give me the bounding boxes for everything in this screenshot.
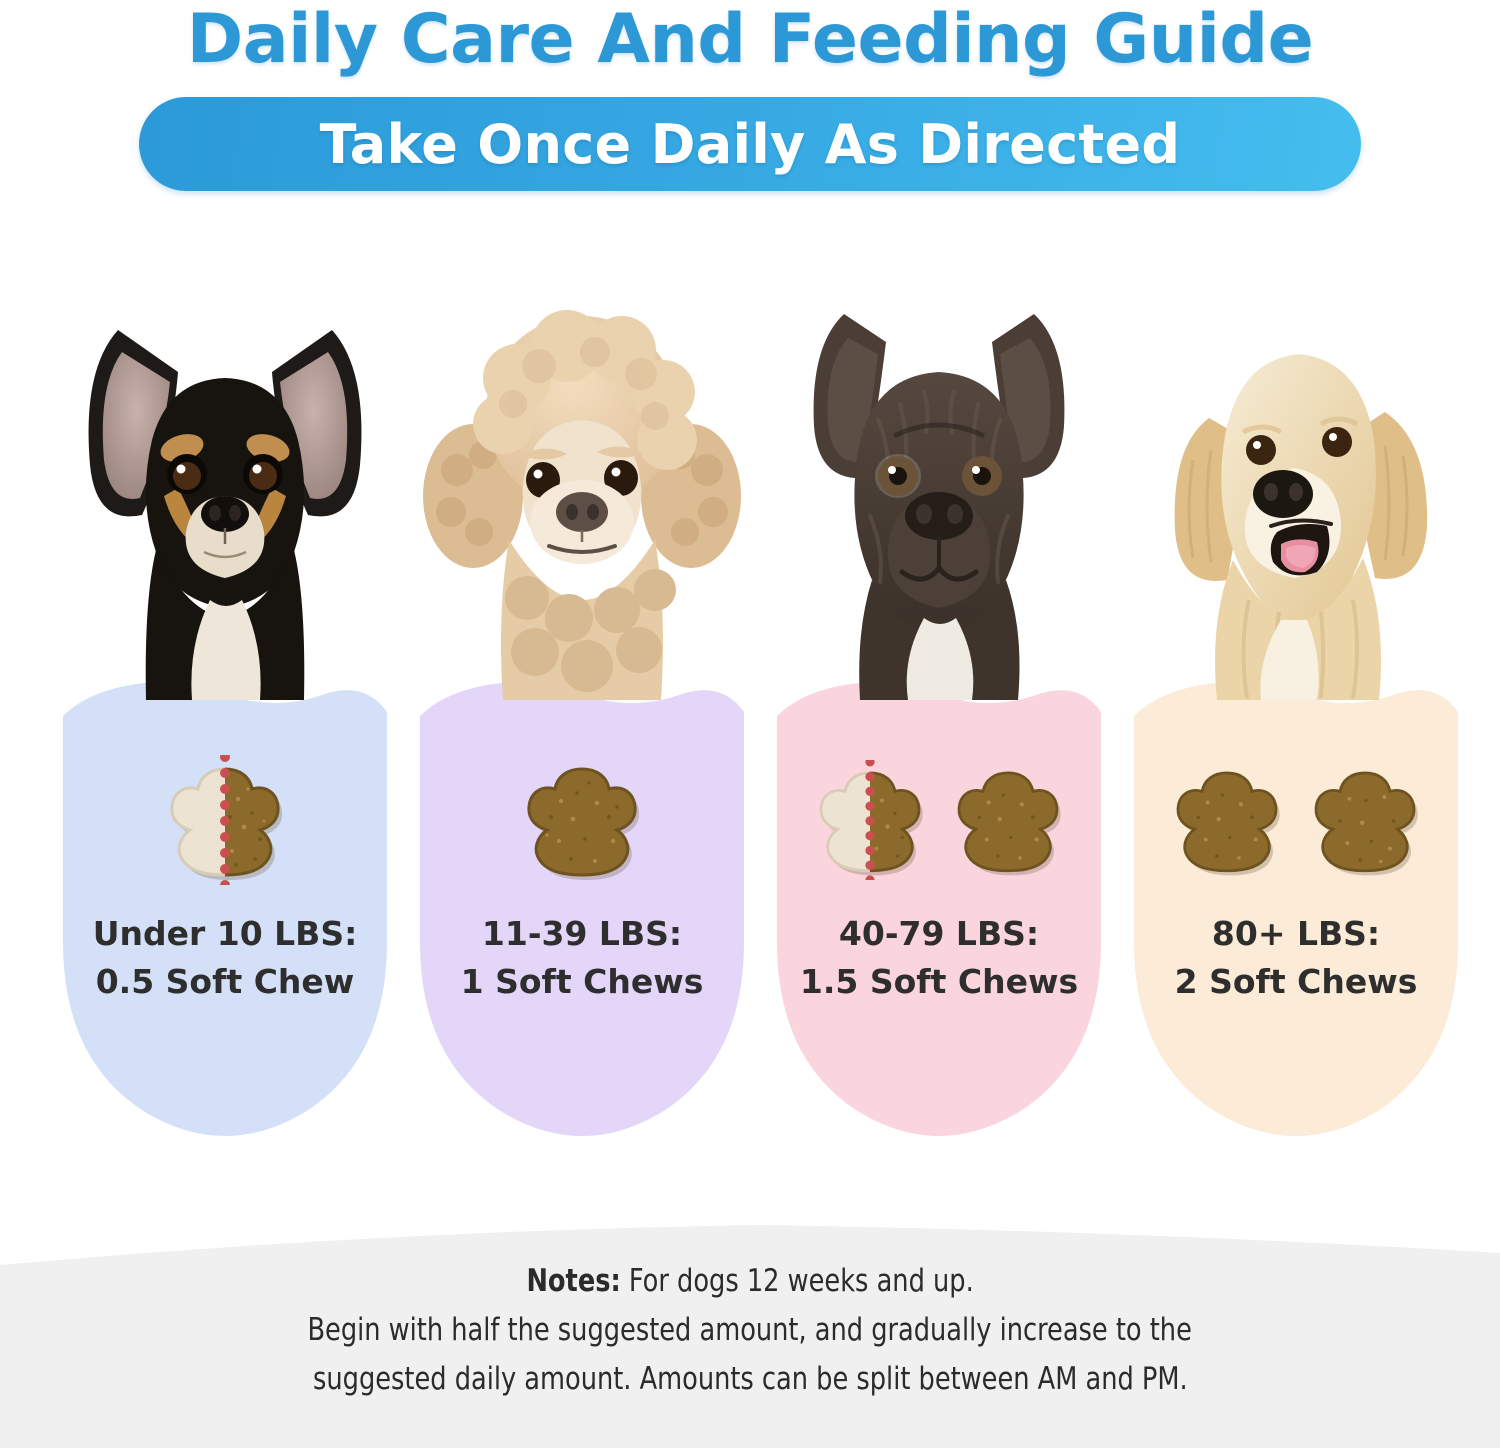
header: Daily Care And Feeding Guide Take Once D… bbox=[0, 0, 1500, 191]
dosage-label-3: 40-79 LBS: 1.5 Soft Chews bbox=[769, 910, 1109, 1006]
notes-line-1-rest: For dogs 12 weeks and up. bbox=[621, 1263, 974, 1299]
notes-line-2: Begin with half the suggested amount, an… bbox=[308, 1312, 1192, 1349]
dosage-cards: Under 10 LBS: 0.5 Soft Chew bbox=[0, 300, 1500, 1160]
dog-golden-retriever bbox=[1131, 300, 1461, 700]
dosage-label-4: 80+ LBS: 2 Soft Chews bbox=[1126, 910, 1466, 1006]
dosage-label-2: 11-39 LBS: 1 Soft Chews bbox=[412, 910, 752, 1006]
dose-amount-4: 2 Soft Chews bbox=[1126, 958, 1466, 1006]
weight-range-3: 40-79 LBS: bbox=[839, 914, 1039, 953]
weight-range-4: 80+ LBS: bbox=[1212, 914, 1380, 953]
dose-amount-2: 1 Soft Chews bbox=[412, 958, 752, 1006]
dog-french-bulldog bbox=[774, 300, 1104, 700]
notes-text: Notes: For dogs 12 weeks and up. Begin w… bbox=[0, 1213, 1500, 1448]
dosage-card-40-79: 40-79 LBS: 1.5 Soft Chews bbox=[769, 300, 1109, 1160]
notes-line-1: Notes: For dogs 12 weeks and up. bbox=[526, 1263, 973, 1300]
full-paw-chew-icon bbox=[1167, 760, 1287, 880]
notes-label: Notes: bbox=[526, 1263, 620, 1299]
cut-line-dots bbox=[220, 755, 230, 885]
dosage-card-under-10: Under 10 LBS: 0.5 Soft Chew bbox=[55, 300, 395, 1160]
half-paw-chew-icon bbox=[160, 755, 290, 885]
banner-wrap: Take Once Daily As Directed bbox=[0, 97, 1500, 191]
dosage-card-80-plus: 80+ LBS: 2 Soft Chews bbox=[1126, 300, 1466, 1160]
directions-banner-text: Take Once Daily As Directed bbox=[320, 113, 1181, 176]
notes-line-3: suggested daily amount. Amounts can be s… bbox=[313, 1361, 1188, 1398]
weight-range-1: Under 10 LBS: bbox=[93, 914, 358, 953]
dog-chihuahua bbox=[60, 300, 390, 700]
full-paw-chew-icon bbox=[517, 755, 647, 885]
weight-range-2: 11-39 LBS: bbox=[482, 914, 682, 953]
chew-icons-1 bbox=[55, 730, 395, 910]
dose-amount-3: 1.5 Soft Chews bbox=[769, 958, 1109, 1006]
full-paw-chew-icon bbox=[1305, 760, 1425, 880]
full-paw-chew-icon bbox=[948, 760, 1068, 880]
page-title: Daily Care And Feeding Guide bbox=[0, 4, 1500, 75]
half-paw-chew-icon bbox=[810, 760, 930, 880]
dosage-label-1: Under 10 LBS: 0.5 Soft Chew bbox=[55, 910, 395, 1006]
chew-icons-2 bbox=[412, 730, 752, 910]
chew-icons-4 bbox=[1126, 730, 1466, 910]
dosage-card-11-39: 11-39 LBS: 1 Soft Chews bbox=[412, 300, 752, 1160]
dog-poodle bbox=[417, 300, 747, 700]
cut-line-dots bbox=[865, 760, 874, 880]
dose-amount-1: 0.5 Soft Chew bbox=[55, 958, 395, 1006]
chew-icons-3 bbox=[769, 730, 1109, 910]
directions-banner: Take Once Daily As Directed bbox=[139, 97, 1361, 191]
